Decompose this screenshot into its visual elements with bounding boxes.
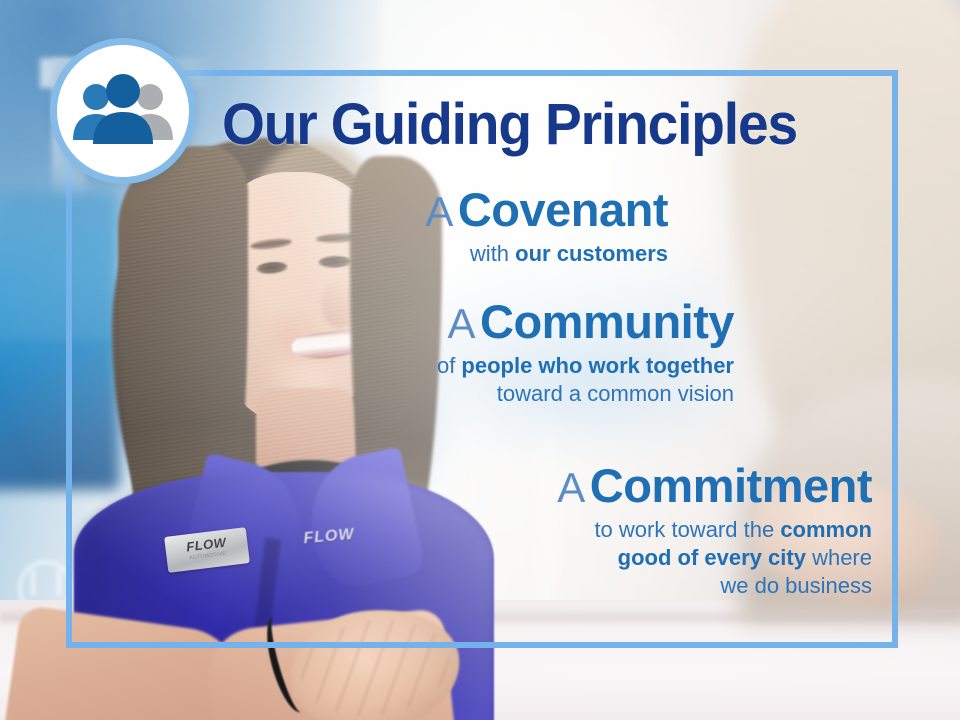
- principle-article: A: [448, 300, 476, 347]
- principle-commitment: A Commitment to work toward the commongo…: [557, 462, 872, 600]
- principle-subtext: to work toward the commongood of every c…: [557, 516, 872, 600]
- principle-heading: A Community: [437, 298, 734, 346]
- principle-heading: A Covenant: [425, 186, 668, 234]
- page-title: Our Guiding Principles: [222, 96, 797, 154]
- principle-keyword: Commitment: [590, 459, 872, 512]
- people-group-badge: [50, 38, 196, 184]
- principle-keyword: Community: [480, 295, 734, 348]
- principle-article: A: [425, 188, 453, 235]
- principle-covenant: A Covenant with our customers: [425, 186, 668, 268]
- principle-heading: A Commitment: [557, 462, 872, 510]
- principle-subtext: of people who work togethertoward a comm…: [437, 352, 734, 408]
- guiding-principles-banner: FLOW AUTOMOTIVE FLOW Our Gui: [0, 0, 960, 720]
- people-group-icon: [71, 74, 175, 148]
- principle-subtext: with our customers: [425, 240, 668, 268]
- principle-article: A: [557, 464, 585, 511]
- principle-keyword: Covenant: [458, 183, 668, 236]
- principle-community: A Community of people who work togethert…: [437, 298, 734, 408]
